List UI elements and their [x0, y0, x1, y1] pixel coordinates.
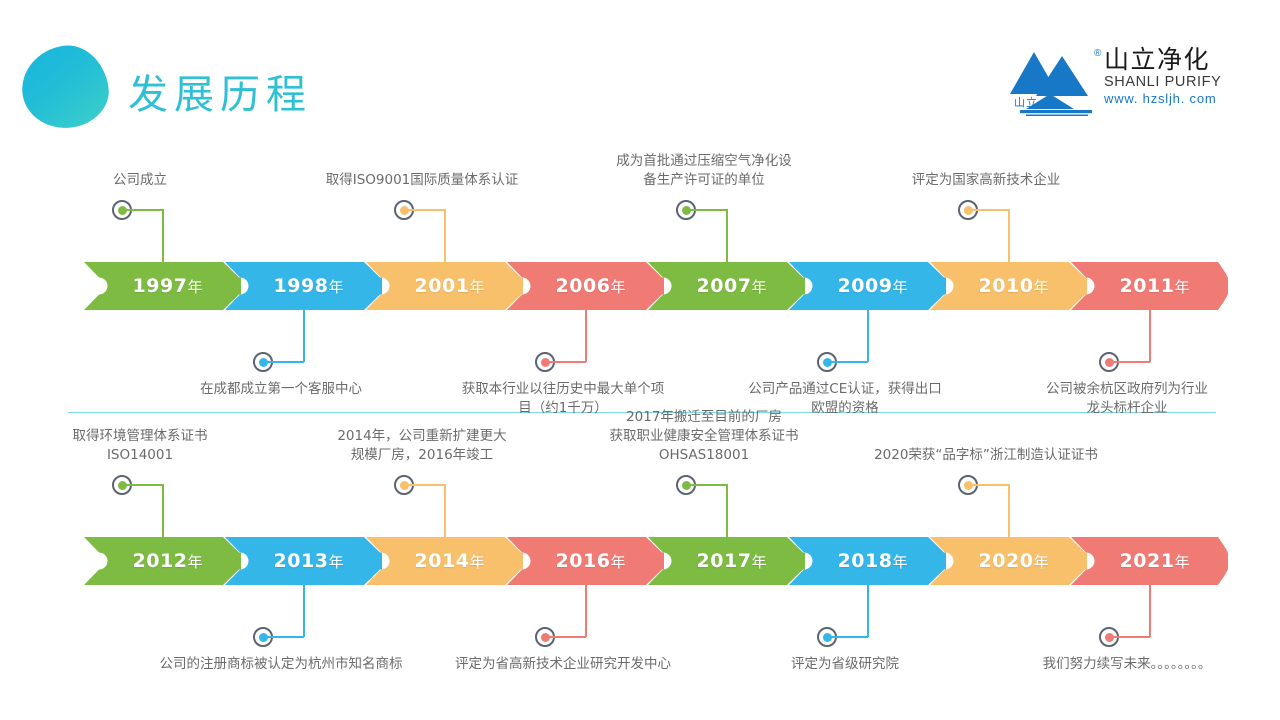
year-suffix: 年: [1033, 278, 1048, 296]
chevron-year-label: 2018年: [789, 537, 946, 585]
connector-horizontal: [686, 209, 727, 211]
year-suffix: 年: [610, 278, 625, 296]
timeline-chevron-1998[interactable]: 1998年: [225, 262, 382, 310]
year-suffix: 年: [328, 553, 343, 571]
connector-vertical: [585, 304, 587, 362]
connector-horizontal: [122, 484, 163, 486]
chevron-year-label: 2017年: [648, 537, 805, 585]
year-number: 2018: [838, 550, 893, 572]
timeline-caption-2018: 评定为省级研究院: [695, 655, 995, 674]
year-number: 2006: [556, 275, 611, 297]
timeline-chevron-2006[interactable]: 2006年: [507, 262, 664, 310]
year-suffix: 年: [751, 278, 766, 296]
year-number: 2013: [274, 550, 329, 572]
chevron-year-label: 2020年: [930, 537, 1087, 585]
logo-brand-en: SHANLI PURIFY: [1104, 74, 1224, 91]
chevron-year-label: 2006年: [507, 262, 664, 310]
timeline-row-2: 2012年2013年2014年2016年2017年2018年2020年2021年…: [0, 425, 1280, 715]
connector-vertical: [867, 579, 869, 637]
timeline-caption-2017: 2017年搬迁至目前的厂房 获取职业健康安全管理体系证书 OHSAS18001: [554, 408, 854, 465]
year-suffix: 年: [187, 553, 202, 571]
timeline-caption-2007: 成为首批通过压缩空气净化设 备生产许可证的单位: [554, 152, 854, 190]
timeline-caption-2016: 评定为省高新技术企业研究开发中心: [413, 655, 713, 674]
connector-vertical: [726, 484, 728, 542]
connector-vertical: [162, 209, 164, 267]
connector-vertical: [303, 304, 305, 362]
year-number: 2017: [697, 550, 752, 572]
connector-vertical: [1008, 484, 1010, 542]
connector-horizontal: [1109, 636, 1150, 638]
chevron-year-label: 2012年: [84, 537, 241, 585]
chevron-year-label: 2009年: [789, 262, 946, 310]
connector-vertical: [444, 209, 446, 267]
timeline-chevron-2018[interactable]: 2018年: [789, 537, 946, 585]
connector-horizontal: [827, 636, 868, 638]
timeline-caption-2021: 我们努力续写未来。。。。。。。。: [977, 655, 1277, 674]
year-number: 2007: [697, 275, 752, 297]
timeline-caption-1997: 公司成立: [0, 171, 290, 190]
year-number: 2001: [415, 275, 470, 297]
timeline-chevron-2016[interactable]: 2016年: [507, 537, 664, 585]
chevron-year-label: 2016年: [507, 537, 664, 585]
year-number: 2014: [415, 550, 470, 572]
timeline-caption-2010: 评定为国家高新技术企业: [836, 171, 1136, 190]
connector-vertical: [1149, 579, 1151, 637]
chevron-year-label: 1998年: [225, 262, 382, 310]
year-number: 2012: [133, 550, 188, 572]
year-number: 2016: [556, 550, 611, 572]
connector-vertical: [1008, 209, 1010, 267]
year-suffix: 年: [892, 278, 907, 296]
connector-horizontal: [404, 209, 445, 211]
connector-horizontal: [122, 209, 163, 211]
timeline-chevron-2007[interactable]: 2007年: [648, 262, 805, 310]
connector-vertical: [162, 484, 164, 542]
page-title: 发展历程: [128, 62, 312, 120]
connector-horizontal: [263, 361, 304, 363]
year-suffix: 年: [751, 553, 766, 571]
connector-horizontal: [545, 636, 586, 638]
timeline-chevron-2011[interactable]: 2011年: [1071, 262, 1228, 310]
timeline-caption-1998: 在成都成立第一个客服中心: [131, 380, 431, 399]
timeline-chevron-2020[interactable]: 2020年: [930, 537, 1087, 585]
connector-vertical: [585, 579, 587, 637]
year-number: 2021: [1120, 550, 1175, 572]
connector-horizontal: [545, 361, 586, 363]
connector-vertical: [726, 209, 728, 267]
timeline-chevron-2012[interactable]: 2012年: [84, 537, 241, 585]
registered-mark-icon: ®: [1094, 48, 1101, 59]
chevron-year-label: 2014年: [366, 537, 523, 585]
timeline-chevron-2013[interactable]: 2013年: [225, 537, 382, 585]
logo-brand-cn: 山立净化: [1104, 46, 1224, 74]
title-blob-decoration: [17, 40, 114, 133]
chevron-year-label: 1997年: [84, 262, 241, 310]
logo-wordmark: 山立净化 SHANLI PURIFY www. hzsljh. com: [1104, 46, 1224, 107]
chevron-year-label: 2010年: [930, 262, 1087, 310]
timeline-caption-2012: 取得环境管理体系证书 ISO14001: [0, 427, 290, 465]
year-number: 1997: [133, 275, 188, 297]
timeline-chevron-1997[interactable]: 1997年: [84, 262, 241, 310]
timeline-caption-2001: 取得ISO9001国际质量体系认证: [272, 171, 572, 190]
year-suffix: 年: [1174, 553, 1189, 571]
connector-vertical: [867, 304, 869, 362]
connector-horizontal: [1109, 361, 1150, 363]
timeline-chevron-2001[interactable]: 2001年: [366, 262, 523, 310]
chevron-year-label: 2021年: [1071, 537, 1228, 585]
year-suffix: 年: [328, 278, 343, 296]
logo-mark-subtext: 山立: [1014, 94, 1038, 110]
timeline-chevron-2017[interactable]: 2017年: [648, 537, 805, 585]
timeline-chevron-2014[interactable]: 2014年: [366, 537, 523, 585]
chevron-year-label: 2013年: [225, 537, 382, 585]
chevron-band-1: 1997年1998年2001年2006年2007年2009年2010年2011年: [84, 262, 1212, 310]
company-logo: ® 山立 山立净化 SHANLI PURIFY www. hzsljh. com: [1004, 44, 1222, 120]
connector-horizontal: [827, 361, 868, 363]
timeline-caption-2011: 公司被余杭区政府列为行业 龙头标杆企业: [977, 380, 1277, 418]
chevron-year-label: 2001年: [366, 262, 523, 310]
connector-horizontal: [404, 484, 445, 486]
year-suffix: 年: [1174, 278, 1189, 296]
connector-horizontal: [263, 636, 304, 638]
timeline-caption-2014: 2014年，公司重新扩建更大 规模厂房，2016年竣工: [272, 427, 572, 465]
timeline-chevron-2010[interactable]: 2010年: [930, 262, 1087, 310]
chevron-band-2: 2012年2013年2014年2016年2017年2018年2020年2021年: [84, 537, 1212, 585]
year-number: 1998: [274, 275, 329, 297]
year-number: 2009: [838, 275, 893, 297]
year-number: 2010: [979, 275, 1034, 297]
timeline-chevron-2009[interactable]: 2009年: [789, 262, 946, 310]
year-suffix: 年: [1033, 553, 1048, 571]
timeline-caption-2013: 公司的注册商标被认定为杭州市知名商标: [131, 655, 431, 674]
connector-horizontal: [686, 484, 727, 486]
chevron-year-label: 2007年: [648, 262, 805, 310]
page-header: 发展历程 ® 山立 山立净化 SHANLI PURIFY www. hzsljh…: [0, 0, 1280, 140]
chevron-year-label: 2011年: [1071, 262, 1228, 310]
logo-website-url: www. hzsljh. com: [1104, 91, 1224, 107]
year-suffix: 年: [187, 278, 202, 296]
year-number: 2011: [1120, 275, 1175, 297]
connector-vertical: [444, 484, 446, 542]
timeline-row-1: 1997年1998年2001年2006年2007年2009年2010年2011年…: [0, 150, 1280, 440]
connector-horizontal: [968, 209, 1009, 211]
connector-vertical: [1149, 304, 1151, 362]
year-suffix: 年: [469, 278, 484, 296]
connector-horizontal: [968, 484, 1009, 486]
year-suffix: 年: [610, 553, 625, 571]
year-suffix: 年: [892, 553, 907, 571]
timeline-chevron-2021[interactable]: 2021年: [1071, 537, 1228, 585]
timeline-caption-2020: 2020荣获“品字标”浙江制造认证证书: [836, 446, 1136, 465]
year-suffix: 年: [469, 553, 484, 571]
year-number: 2020: [979, 550, 1034, 572]
connector-vertical: [303, 579, 305, 637]
